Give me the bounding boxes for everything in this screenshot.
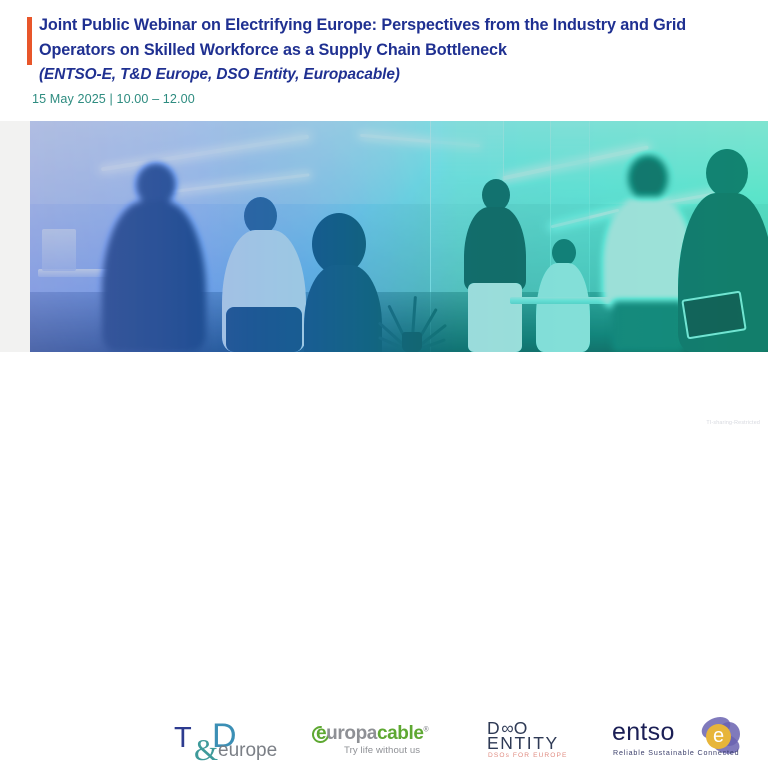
europacable-part3: cable: [377, 723, 424, 744]
entsoe-emblem-icon: e: [706, 724, 731, 749]
page-subtitle: (ENTSO-E, T&D Europe, DSO Entity, Europa…: [39, 64, 739, 85]
page-title: Joint Public Webinar on Electrifying Eur…: [39, 13, 739, 63]
entsoe-emblem-letter: e: [713, 726, 724, 746]
logo-dso-entity: D∞O ENTITY DSOs FOR EUROPE: [487, 720, 597, 764]
hero-photo-band: [0, 121, 768, 352]
logo-bar: T & D europe europacable® Try life witho…: [0, 352, 768, 429]
photo-edge-veil: [30, 121, 768, 352]
accent-bar: [27, 17, 32, 65]
td-letter-t: T: [174, 722, 192, 755]
classification-label: TI-sharing-Restricted: [706, 420, 760, 426]
logo-europacable: europacable® Try life without us: [312, 724, 452, 764]
entsoe-wordmark: entso: [612, 718, 675, 747]
logo-entsoe: entso e Reliable Sustainable Connected: [610, 718, 750, 764]
europacable-tagline: Try life without us: [344, 745, 420, 756]
webinar-announcement-slide: Joint Public Webinar on Electrifying Eur…: [0, 0, 768, 429]
europacable-part2: uropa: [326, 723, 377, 744]
dso-tagline: DSOs FOR EUROPE: [488, 752, 568, 759]
hero-photo-scene: [30, 121, 768, 352]
europacable-registered-mark: ®: [424, 727, 429, 734]
logo-td-europe: T & D europe: [168, 720, 293, 766]
photo-left-margin: [0, 121, 30, 352]
td-word-europe: europe: [218, 740, 277, 762]
event-datetime: 15 May 2025 | 10.00 – 12.00: [32, 92, 195, 106]
europacable-part1: e: [316, 723, 326, 744]
entsoe-tagline: Reliable Sustainable Connected: [613, 749, 739, 757]
hero-photo: [30, 121, 768, 352]
europacable-wordmark: europacable®: [316, 723, 428, 745]
header: Joint Public Webinar on Electrifying Eur…: [0, 0, 768, 121]
dso-wordmark-line2: ENTITY: [487, 733, 559, 754]
